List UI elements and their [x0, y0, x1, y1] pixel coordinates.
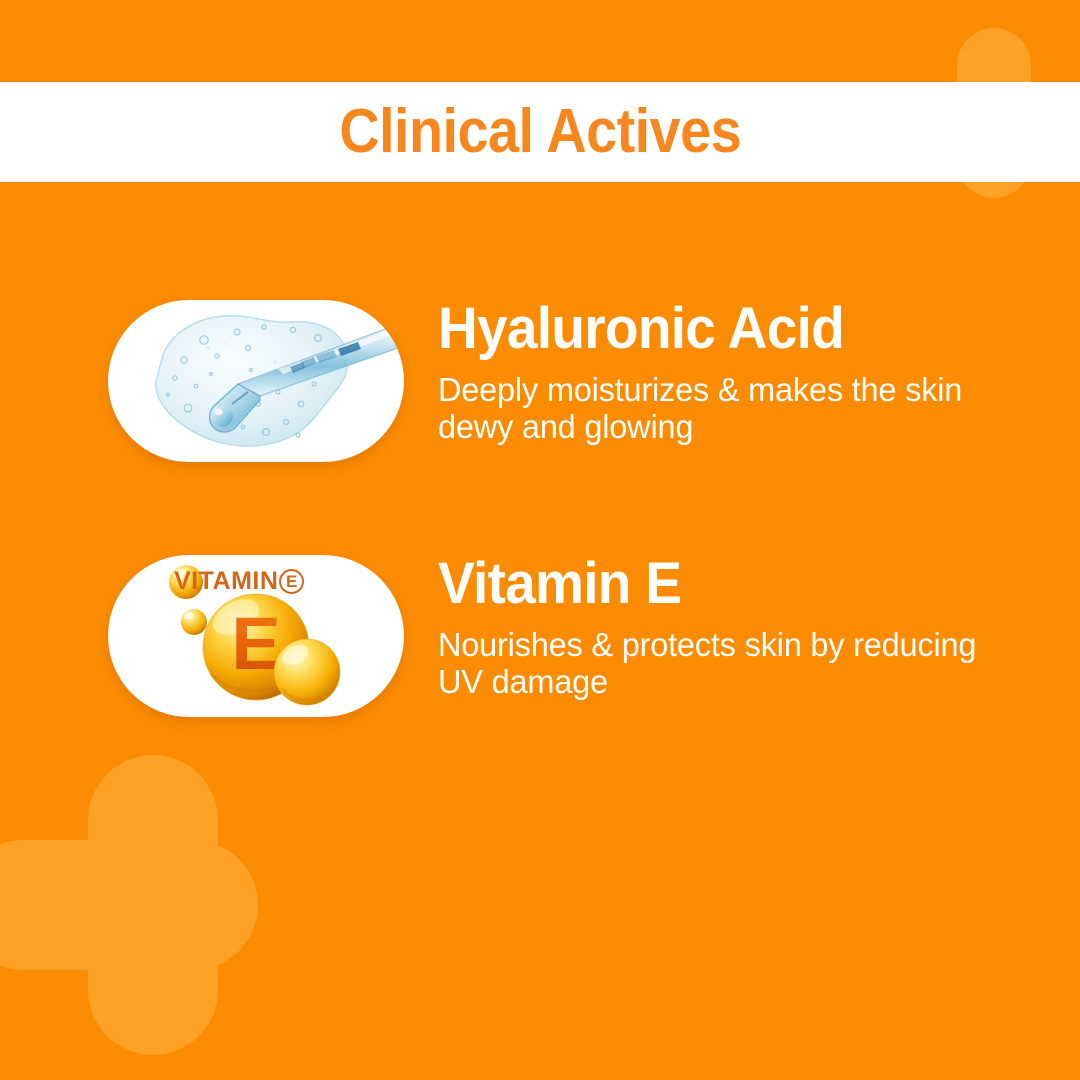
gel-drop-with-dropper-icon: [108, 300, 404, 462]
feature-name: Hyaluronic Acid: [438, 300, 1008, 358]
vitamin-e-oil-droplet-icon: E VITAMIN E: [108, 555, 404, 717]
feature-icon-tile: E VITAMIN E: [108, 555, 404, 717]
feature-icon-tile: [108, 300, 404, 462]
vitamin-e-badge: E: [279, 569, 304, 594]
feature-description: Deeply moisturizes & makes the skin dewy…: [438, 372, 1020, 446]
clinical-actives-poster: Clinical Actives: [0, 0, 1080, 1080]
droplet-letter-e: E: [231, 602, 280, 685]
feature-name: Vitamin E: [438, 555, 1008, 613]
page-title: Clinical Actives: [339, 101, 741, 163]
oil-bubble-small-mid: [181, 609, 207, 635]
vitamin-label-text: VITAMIN: [174, 569, 278, 594]
vitamin-e-wordmark: VITAMIN E: [174, 569, 304, 594]
feature-text-block: Hyaluronic Acid Deeply moisturizes & mak…: [438, 300, 1038, 446]
feature-description: Nourishes & protects skin by reducing UV…: [438, 627, 1020, 701]
oil-droplet-secondary: [274, 639, 340, 705]
feature-text-block: Vitamin E Nourishes & protects skin by r…: [438, 555, 1038, 701]
title-band: Clinical Actives: [0, 82, 1080, 182]
